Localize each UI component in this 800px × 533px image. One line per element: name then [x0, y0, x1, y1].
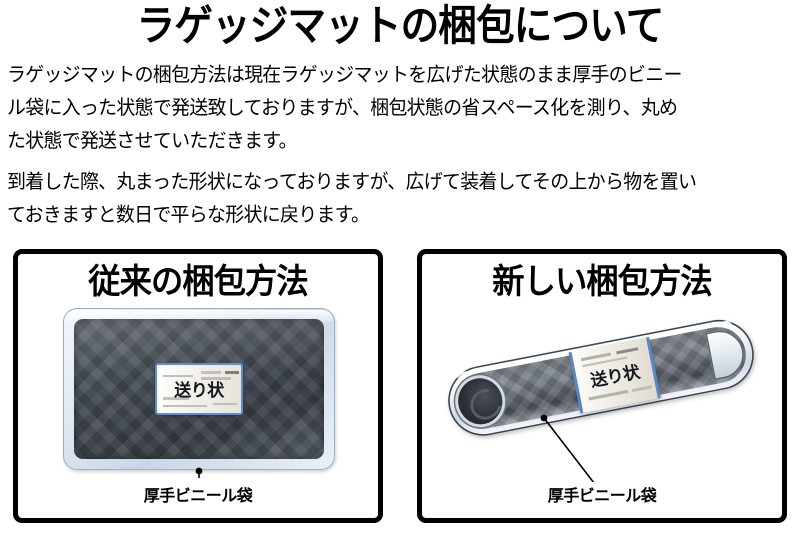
paragraph-1-line-1: ラゲッジマットの梱包方法は現在ラゲッジマットを広げた状態のまま厚手のビニー: [7, 58, 773, 91]
illustration-flat-mat: 送り状: [18, 302, 378, 478]
panel-old-packaging: 従来の梱包方法 送り状 厚手ビニール: [13, 249, 383, 523]
caption-vinyl-bag-old: 厚手ビニール袋: [18, 482, 378, 506]
callout-line: [544, 418, 604, 482]
callout-leader-right: [422, 306, 782, 482]
paragraph-2-line-1: 到着した際、丸まった形状になっておりますが、広げて装着してその上から物を置い: [7, 165, 773, 198]
illustration-rolled-mat: 送り状: [422, 306, 782, 482]
panel-new-packaging: 新しい梱包方法 送り状: [417, 249, 787, 523]
paragraph-1-line-2: ル袋に入った状態で発送致しておりますが、梱包状態の省スペース化を測り、丸め: [7, 91, 773, 124]
paragraph-2-line-2: ておきますと数日で平らな形状に戻ります。: [7, 198, 773, 231]
paragraph-2: 到着した際、丸まった形状になっておりますが、広げて装着してその上から物を置い て…: [7, 165, 773, 231]
paragraph-1: ラゲッジマットの梱包方法は現在ラゲッジマットを広げた状態のまま厚手のビニー ル袋…: [7, 58, 773, 157]
panel-old-title: 従来の梱包方法: [27, 260, 369, 304]
paragraph-1-line-3: た状態で発送させていただきます。: [7, 124, 773, 157]
caption-vinyl-bag-new: 厚手ビニール袋: [422, 482, 782, 506]
callout-leader-left: [18, 302, 378, 478]
page-title: ラゲッジマットの梱包について: [32, 2, 768, 50]
body-copy: ラゲッジマットの梱包方法は現在ラゲッジマットを広げた状態のまま厚手のビニー ル袋…: [7, 58, 797, 231]
panel-new-title: 新しい梱包方法: [431, 260, 773, 304]
